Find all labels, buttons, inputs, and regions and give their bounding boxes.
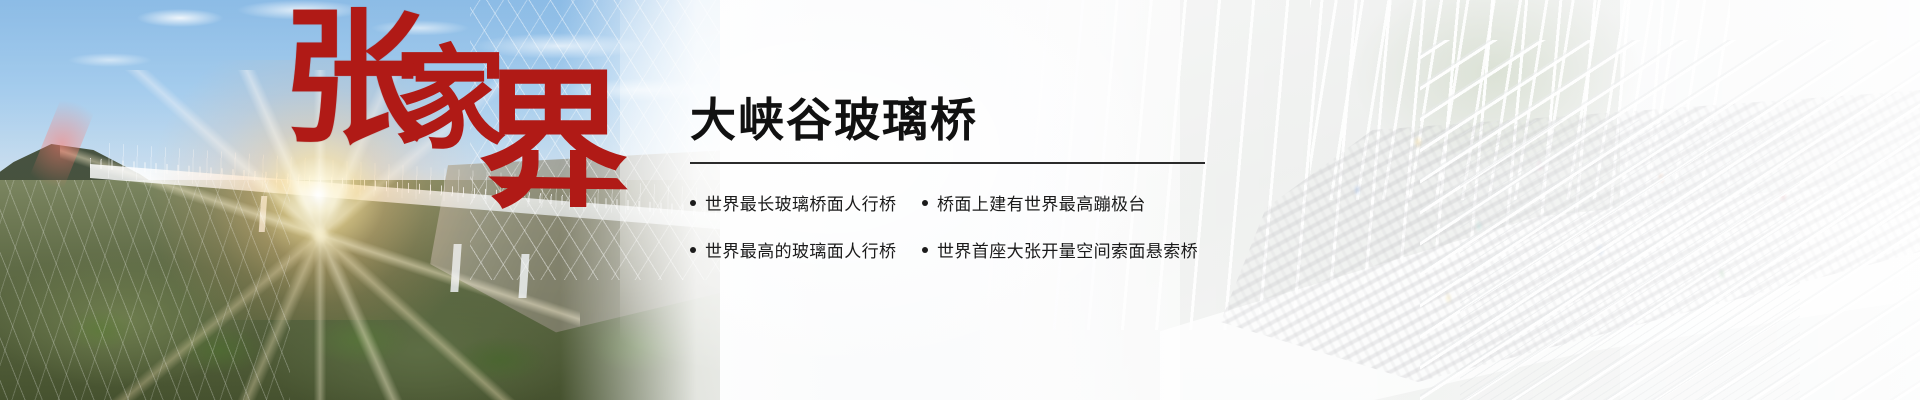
list-item-label: 世界首座大张开量空间索面悬索桥: [937, 237, 1198, 262]
zhangjiajie-grand-canyon-glass-bridge-banner: 张 家 界 大峡谷玻璃桥 世界最长玻璃桥面人行桥 桥面上建有世界最高蹦极台 世界…: [0, 0, 1920, 400]
bullet-dot-icon: [922, 247, 928, 253]
list-item: 桥面上建有世界最高蹦极台: [922, 190, 1222, 215]
list-item-label: 世界最长玻璃桥面人行桥: [705, 190, 896, 215]
bullet-dot-icon: [922, 200, 928, 206]
list-item: 世界首座大张开量空间索面悬索桥: [922, 237, 1222, 262]
cable-mesh-net-lower: [0, 180, 290, 400]
page-title: 大峡谷玻璃桥: [690, 96, 1230, 146]
list-item-label: 世界最高的玻璃面人行桥: [705, 237, 896, 262]
feature-list: 世界最长玻璃桥面人行桥 桥面上建有世界最高蹦极台 世界最高的玻璃面人行桥 世界首…: [690, 190, 1210, 262]
text-panel: 大峡谷玻璃桥 世界最长玻璃桥面人行桥 桥面上建有世界最高蹦极台 世界最高的玻璃面…: [690, 96, 1230, 262]
bullet-dot-icon: [690, 247, 696, 253]
list-item: 世界最高的玻璃面人行桥: [690, 237, 922, 262]
list-item: 世界最长玻璃桥面人行桥: [690, 190, 922, 215]
brand-char-3: 界: [478, 66, 628, 216]
bullet-dot-icon: [690, 200, 696, 206]
title-divider: [690, 162, 1205, 164]
list-item-label: 桥面上建有世界最高蹦极台: [937, 190, 1146, 215]
brand-calligraphy: 张 家 界: [282, 6, 702, 196]
